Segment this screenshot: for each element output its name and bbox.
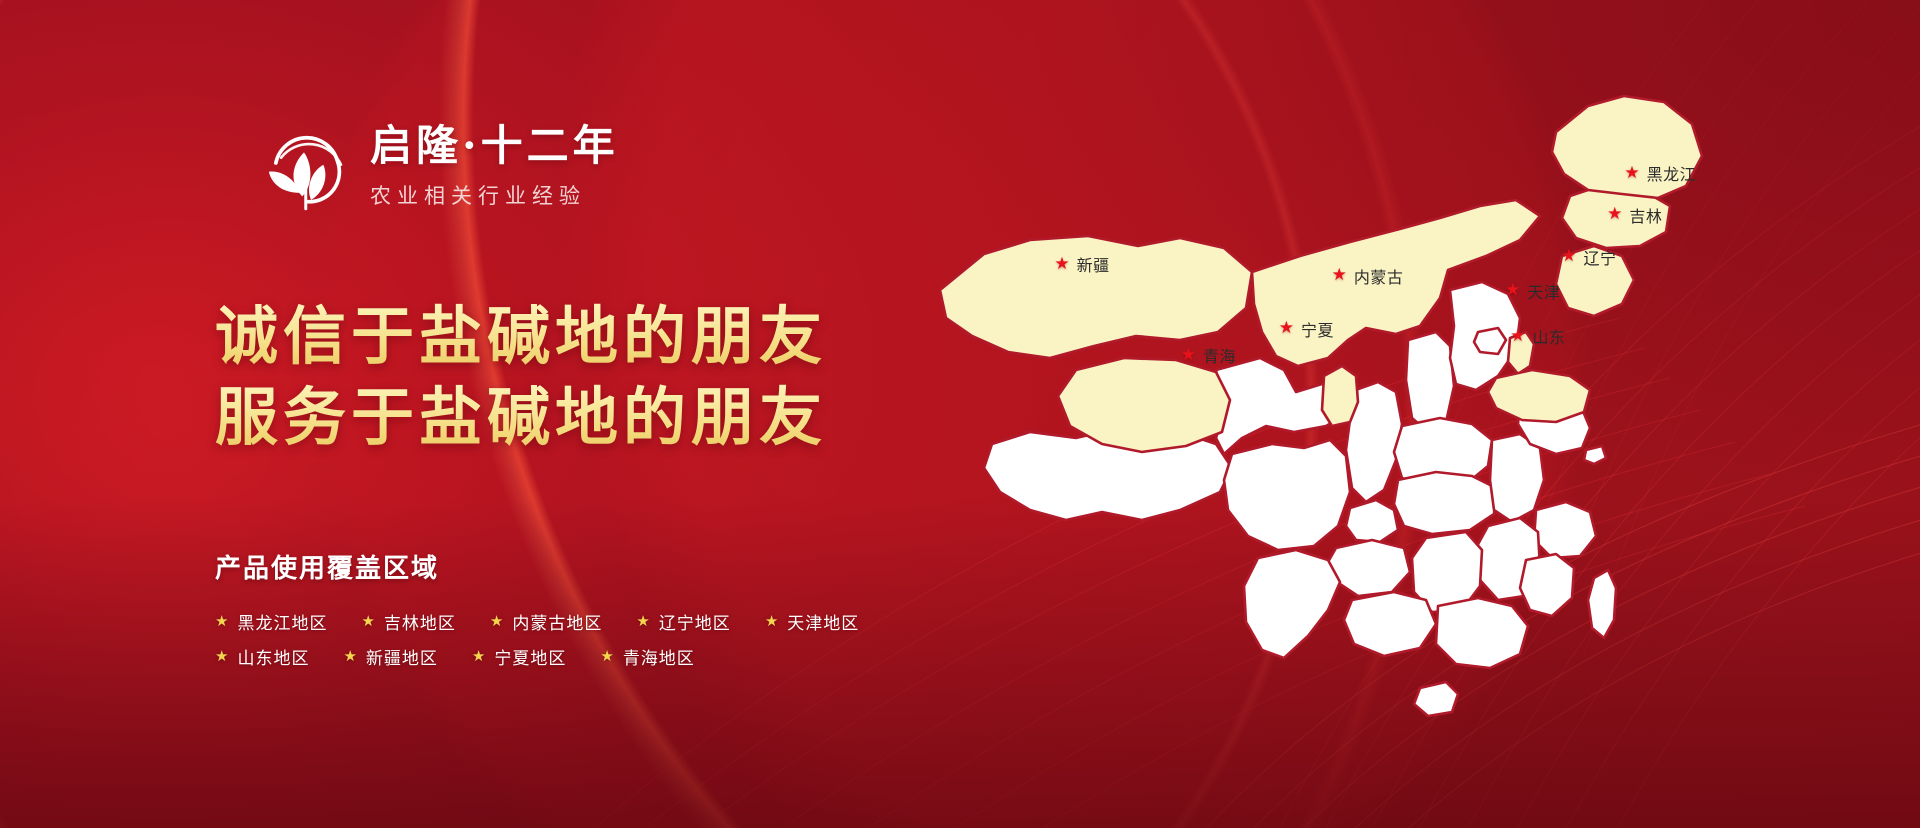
map-marker-label: 山东 <box>1533 324 1566 348</box>
map-marker-label: 青海 <box>1203 343 1236 367</box>
coverage-region-item[interactable]: ★内蒙古地区 <box>490 609 602 634</box>
red-star-marker-icon: ★ <box>1607 206 1622 223</box>
brand-title: 启隆·十二年 <box>370 124 619 168</box>
coverage-region-label: 吉林地区 <box>384 609 456 634</box>
red-star-marker-icon: ★ <box>1510 328 1525 345</box>
star-icon: ★ <box>765 614 778 629</box>
star-icon: ★ <box>600 649 613 664</box>
coverage-region-label: 内蒙古地区 <box>512 609 602 634</box>
map-marker-4[interactable]: ★山东 <box>1510 324 1565 348</box>
red-star-marker-icon: ★ <box>1279 320 1294 337</box>
map-marker-1[interactable]: ★吉林 <box>1607 203 1662 227</box>
coverage-region-item[interactable]: ★青海地区 <box>600 644 694 669</box>
map-marker-8[interactable]: ★青海 <box>1181 343 1236 367</box>
map-marker-label: 内蒙古 <box>1354 264 1404 288</box>
coverage-region-label: 新疆地区 <box>366 644 438 669</box>
coverage-region-label: 山东地区 <box>237 644 309 669</box>
map-marker-label: 天津 <box>1527 279 1560 303</box>
coverage-region-item[interactable]: ★辽宁地区 <box>636 609 730 634</box>
star-icon: ★ <box>636 614 649 629</box>
coverage-region-item[interactable]: ★天津地区 <box>765 609 859 634</box>
coverage-region-item[interactable]: ★吉林地区 <box>361 609 455 634</box>
coverage-region-item[interactable]: ★山东地区 <box>215 644 309 669</box>
map-marker-2[interactable]: ★辽宁 <box>1561 245 1616 269</box>
red-star-marker-icon: ★ <box>1054 256 1069 273</box>
coverage-region-label: 天津地区 <box>787 609 859 634</box>
star-icon: ★ <box>472 649 485 664</box>
map-marker-label: 吉林 <box>1629 203 1662 227</box>
red-star-marker-icon: ★ <box>1181 347 1196 364</box>
leaf-sprout-circle-logo-icon <box>260 126 348 214</box>
red-star-marker-icon: ★ <box>1505 282 1520 299</box>
star-icon: ★ <box>215 649 228 664</box>
star-icon: ★ <box>343 649 356 664</box>
red-star-marker-icon: ★ <box>1332 267 1347 284</box>
map-marker-5[interactable]: ★内蒙古 <box>1332 264 1404 288</box>
star-icon: ★ <box>361 614 374 629</box>
coverage-region-label: 辽宁地区 <box>659 609 731 634</box>
coverage-region-label: 青海地区 <box>623 644 695 669</box>
red-star-marker-icon: ★ <box>1561 248 1576 265</box>
map-marker-3[interactable]: ★天津 <box>1505 279 1560 303</box>
brand-subtitle: 农业相关行业经验 <box>370 180 619 210</box>
star-icon: ★ <box>490 614 503 629</box>
coverage-region-label: 黑龙江地区 <box>237 609 327 634</box>
coverage-region-item[interactable]: ★黑龙江地区 <box>215 609 327 634</box>
map-marker-label: 黑龙江 <box>1647 161 1697 185</box>
coverage-region-label: 宁夏地区 <box>494 644 566 669</box>
promo-banner: 启隆·十二年 农业相关行业经验 诚信于盐碱地的朋友 服务于盐碱地的朋友 产品使用… <box>0 0 1920 828</box>
red-star-marker-icon: ★ <box>1624 165 1639 182</box>
map-marker-label: 宁夏 <box>1301 317 1334 341</box>
china-map: ★黑龙江★吉林★辽宁★天津★山东★内蒙古★新疆★宁夏★青海 <box>880 40 1900 800</box>
brand-lockup: 启隆·十二年 农业相关行业经验 <box>260 120 619 214</box>
coverage-region-item[interactable]: ★新疆地区 <box>343 644 437 669</box>
coverage-region-item[interactable]: ★宁夏地区 <box>472 644 566 669</box>
star-icon: ★ <box>215 614 228 629</box>
map-marker-0[interactable]: ★黑龙江 <box>1624 161 1696 185</box>
map-marker-label: 辽宁 <box>1584 245 1617 269</box>
brand-text-block: 启隆·十二年 农业相关行业经验 <box>370 120 619 210</box>
map-marker-label: 新疆 <box>1077 252 1110 276</box>
map-marker-layer: ★黑龙江★吉林★辽宁★天津★山东★内蒙古★新疆★宁夏★青海 <box>880 40 1900 800</box>
map-marker-7[interactable]: ★宁夏 <box>1279 317 1334 341</box>
map-marker-6[interactable]: ★新疆 <box>1054 252 1109 276</box>
